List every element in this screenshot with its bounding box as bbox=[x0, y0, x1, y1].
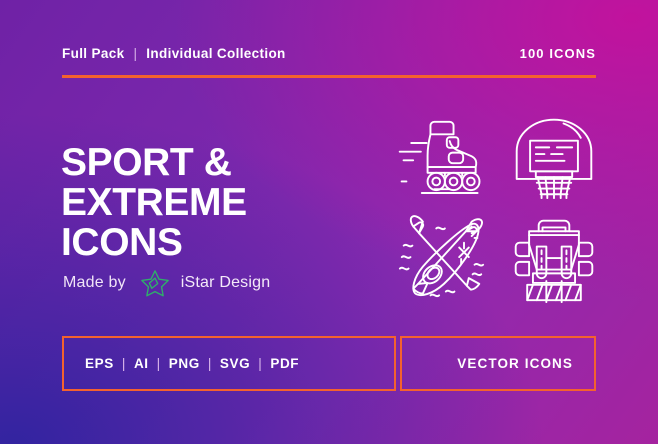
header-full-pack-label: Full Pack bbox=[62, 46, 124, 61]
icon-cell-backpack bbox=[498, 207, 610, 310]
vector-icons-box: VECTOR ICONS bbox=[400, 336, 596, 391]
kayak-paddle-icon bbox=[392, 215, 492, 303]
credit-block: Made by iStar Design bbox=[63, 270, 270, 296]
format-svg: SVG bbox=[220, 356, 250, 371]
poster-canvas: Full Pack | Individual Collection 100 IC… bbox=[0, 0, 658, 444]
format-separator-4: | bbox=[258, 356, 262, 371]
format-png: PNG bbox=[169, 356, 200, 371]
page-title: SPORT & EXTREME ICONS bbox=[61, 143, 247, 263]
header-divider-rule bbox=[62, 75, 596, 78]
vector-icons-label: VECTOR ICONS bbox=[457, 356, 573, 371]
format-pdf: PDF bbox=[270, 356, 299, 371]
title-line-1: SPORT & bbox=[61, 143, 247, 183]
brand-name-label: iStar Design bbox=[181, 274, 271, 292]
file-formats-box: EPS | AI | PNG | SVG | PDF bbox=[62, 336, 396, 391]
format-eps: EPS bbox=[85, 356, 114, 371]
basketball-hoop-icon bbox=[506, 112, 602, 200]
roller-skate-icon bbox=[392, 114, 492, 197]
star-outline-icon bbox=[140, 269, 170, 297]
file-formats-list: EPS | AI | PNG | SVG | PDF bbox=[85, 356, 299, 371]
title-line-2: EXTREME bbox=[61, 183, 247, 223]
header-separator: | bbox=[133, 46, 137, 61]
title-line-3: ICONS bbox=[61, 223, 247, 263]
format-separator-2: | bbox=[157, 356, 161, 371]
header-left-group: Full Pack | Individual Collection bbox=[62, 46, 286, 61]
format-separator-1: | bbox=[122, 356, 126, 371]
made-by-label: Made by bbox=[63, 274, 126, 292]
hiking-backpack-icon bbox=[506, 214, 602, 304]
header-individual-collection-label: Individual Collection bbox=[146, 46, 285, 61]
format-ai: AI bbox=[134, 356, 149, 371]
header-icon-count: 100 ICONS bbox=[520, 46, 596, 61]
icon-cell-kayak bbox=[386, 207, 498, 310]
icon-cell-roller-skate bbox=[386, 104, 498, 207]
icon-cell-basketball-hoop bbox=[498, 104, 610, 207]
format-separator-3: | bbox=[208, 356, 212, 371]
icon-preview-grid bbox=[386, 104, 610, 310]
poster-header: Full Pack | Individual Collection 100 IC… bbox=[62, 46, 596, 78]
